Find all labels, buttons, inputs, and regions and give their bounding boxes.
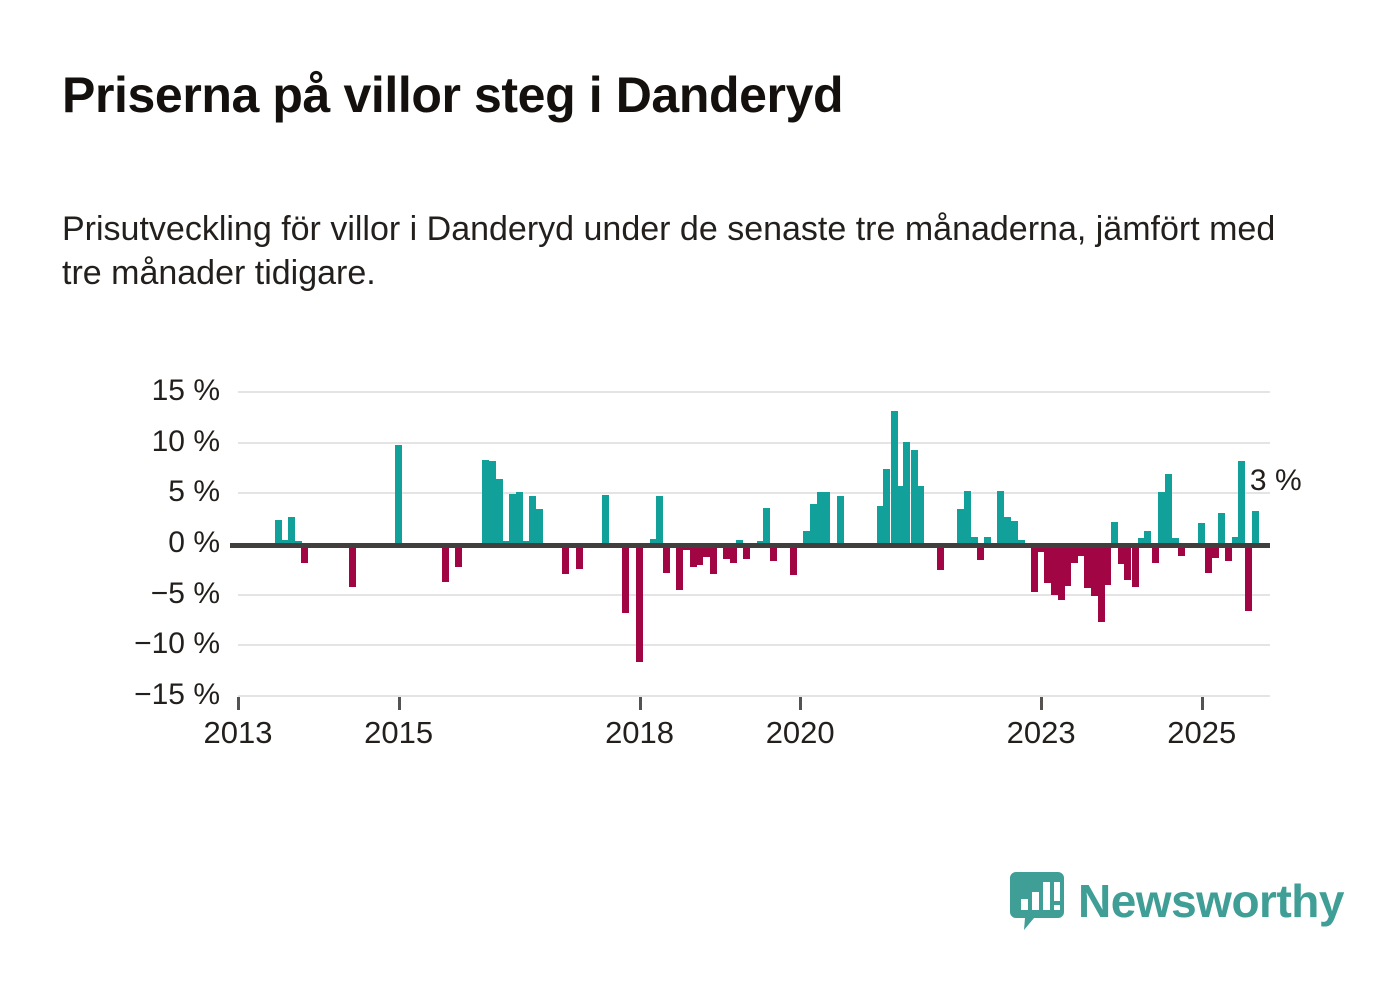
bar [1245, 543, 1252, 611]
bar [516, 492, 523, 543]
x-axis-tick-label: 2013 [204, 715, 273, 751]
bar [1064, 543, 1071, 586]
x-axis-tick [398, 697, 401, 710]
bar-chart: 15 %10 %5 %0 %−5 %−10 %−15 % 20132015201… [0, 360, 1382, 760]
bar [349, 543, 356, 587]
x-axis-tick-label: 2015 [364, 715, 433, 751]
bar [395, 445, 402, 543]
x-axis-tick-label: 2020 [766, 715, 835, 751]
bar [1198, 523, 1205, 543]
bar [1144, 531, 1151, 543]
x-axis-tick [237, 697, 240, 710]
y-axis-tick-label: −15 % [80, 678, 220, 712]
bar [636, 543, 643, 662]
bar [1044, 543, 1051, 583]
bar [903, 442, 910, 543]
bar [1111, 522, 1118, 543]
newsworthy-wordmark: Newsworthy [1078, 878, 1344, 924]
bar [656, 496, 663, 543]
x-axis-tick [1040, 697, 1043, 710]
y-axis-tick-label: 0 % [80, 526, 220, 560]
y-axis-tick-label: 5 % [80, 475, 220, 509]
y-axis-tick-label: 10 % [80, 425, 220, 459]
bar [1252, 511, 1259, 543]
bar [482, 460, 489, 543]
bar [1238, 461, 1245, 543]
bar [1132, 543, 1139, 587]
y-axis-tick-label: 15 % [80, 374, 220, 408]
bar [803, 531, 810, 543]
y-axis-tick-label: −5 % [80, 577, 220, 611]
page-subtitle: Prisutveckling för villor i Danderyd und… [62, 208, 1302, 295]
page-title: Priserna på villor steg i Danderyd [62, 66, 843, 124]
bar [622, 543, 629, 613]
y-axis-tick-label: −10 % [80, 627, 220, 661]
x-axis-tick-label: 2023 [1007, 715, 1076, 751]
bar [536, 509, 543, 543]
bar [883, 469, 890, 543]
x-axis-line [238, 695, 1270, 697]
bar [1124, 543, 1131, 580]
bar [1165, 474, 1172, 543]
bar [288, 517, 295, 543]
bar [1004, 517, 1011, 543]
x-axis-tick-label: 2025 [1167, 715, 1236, 751]
bar [442, 543, 449, 582]
x-axis-tick [1201, 697, 1204, 710]
bar [763, 508, 770, 543]
value-annotation: 3 % [1250, 464, 1302, 498]
bar [964, 491, 971, 543]
x-axis-tick [639, 697, 642, 710]
x-axis-tick-label: 2018 [605, 715, 674, 751]
x-axis-tick [799, 697, 802, 710]
bar [496, 479, 503, 543]
newsworthy-bar-chart-bubble-icon [1010, 872, 1064, 930]
bar [837, 496, 844, 543]
bar [602, 495, 609, 543]
plot-area [238, 391, 1270, 695]
bar [1084, 543, 1091, 588]
chart-page: Priserna på villor steg i Danderyd Prisu… [0, 0, 1382, 999]
zero-axis-line [230, 543, 1270, 548]
bar [1218, 513, 1225, 543]
bar [917, 486, 924, 543]
newsworthy-logo: Newsworthy [1010, 872, 1344, 930]
bar [823, 492, 830, 543]
bar [1104, 543, 1111, 585]
